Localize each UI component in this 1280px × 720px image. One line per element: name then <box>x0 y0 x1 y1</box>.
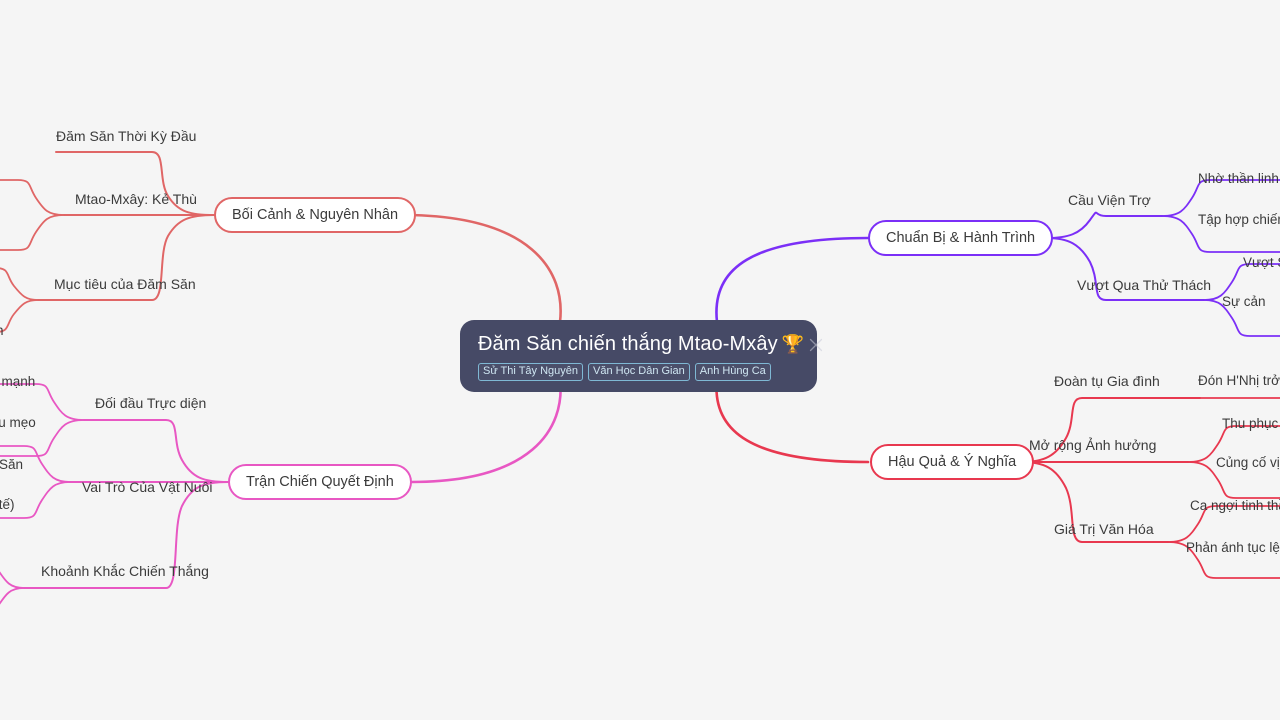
sub-label-khoanh-khac-chien-thang[interactable]: Khoảnh Khắc Chiến Thắng <box>41 563 209 579</box>
leaf-label-hau-qua-1a[interactable]: Đón H'Nhị trở <box>1198 373 1280 389</box>
leaf-label-hau-qua-3a[interactable]: Ca ngợi tinh thầ <box>1190 498 1280 514</box>
sub-label-mo-rong-anh-huong[interactable]: Mở rộng Ảnh hưởng <box>1029 437 1156 453</box>
branch-label: Bối Cảnh & Nguyên Nhân <box>232 207 398 223</box>
sub-label-dam-san-thoi-ky-dau[interactable]: Đăm Săn Thời Kỳ Đầu <box>56 128 196 144</box>
leaf-label-tran-chien-2a[interactable]: m Săn <box>0 457 23 473</box>
root-title: Đăm Săn chiến thắng Mtao-Mxây <box>478 332 778 356</box>
branch-label: Hậu Quả & Ý Nghĩa <box>888 454 1016 470</box>
edge-group-boi-canh-grandchildren <box>0 180 64 332</box>
branch-node-chuan-bi[interactable]: Chuẩn Bị & Hành Trình <box>868 220 1053 256</box>
root-tag[interactable]: Anh Hùng Ca <box>695 363 771 381</box>
root-tag-list: Sử Thi Tây Nguyên Văn Học Dân Gian Anh H… <box>478 363 799 381</box>
edge-group-chuan-bi <box>716 238 868 322</box>
root-tag[interactable]: Sử Thi Tây Nguyên <box>478 363 583 381</box>
root-title-row: Đăm Săn chiến thắng Mtao-Mxây 🏆 <box>478 332 799 356</box>
sub-label-cau-vien-tro[interactable]: Cầu Viện Trợ <box>1068 192 1151 208</box>
sub-label-vuot-qua-thu-thach[interactable]: Vượt Qua Thử Thách <box>1077 277 1211 293</box>
edge-group-boi-canh <box>406 215 561 322</box>
trophy-icon: 🏆 <box>782 334 804 354</box>
leaf-label-hau-qua-2b[interactable]: Củng cố vị <box>1216 455 1280 471</box>
branch-node-boi-canh[interactable]: Bối Cảnh & Nguyên Nhân <box>214 197 416 233</box>
mindmap-canvas: Đăm Săn chiến thắng Mtao-Mxây 🏆 Sử Thi T… <box>0 0 1280 720</box>
leaf-label-chuan-bi-1b[interactable]: Tập hợp chiến <box>1198 212 1280 228</box>
branch-label: Chuẩn Bị & Hành Trình <box>886 230 1035 246</box>
branch-label: Trận Chiến Quyết Định <box>246 474 394 490</box>
crossed-swords-icon[interactable] <box>808 337 824 354</box>
edge-group-tran-chien <box>412 378 561 482</box>
leaf-label-chuan-bi-2a[interactable]: Vượt S <box>1243 255 1280 271</box>
branch-node-tran-chien[interactable]: Trận Chiến Quyết Định <box>228 464 412 500</box>
leaf-label-tran-chien-1a[interactable]: ức mạnh <box>0 374 35 390</box>
root-tag[interactable]: Văn Học Dân Gian <box>588 363 690 381</box>
sub-label-doi-dau-truc-dien[interactable]: Đối đầu Trực diện <box>95 395 206 411</box>
leaf-label-hau-qua-3b[interactable]: Phản ánh tục lệ <box>1186 540 1280 556</box>
root-node[interactable]: Đăm Săn chiến thắng Mtao-Mxây 🏆 Sử Thi T… <box>460 320 817 392</box>
leaf-label-chuan-bi-1a[interactable]: Nhờ thần linh <box>1198 171 1279 187</box>
leaf-label-boi-canh-2b[interactable]: n <box>0 323 4 339</box>
sub-label-vai-tro-cua-vat-nuoi[interactable]: Vai Trò Của Vật Nuôi <box>82 479 212 495</box>
leaf-label-tran-chien-1b[interactable]: mưu mẹo <box>0 415 36 431</box>
branch-node-hau-qua[interactable]: Hậu Quả & Ý Nghĩa <box>870 444 1034 480</box>
sub-label-gia-tri-van-hoa[interactable]: Giá Trị Văn Hóa <box>1054 521 1154 537</box>
sub-label-mtao-mxay-ke-thu[interactable]: Mtao-Mxây: Kẻ Thù <box>75 191 197 207</box>
leaf-label-chuan-bi-2b[interactable]: Sự cản <box>1222 294 1266 310</box>
sub-label-doan-tu-gia-dinh[interactable]: Đoàn tụ Gia đình <box>1054 373 1160 389</box>
sub-label-muc-tieu-cua-dam-san[interactable]: Mục tiêu của Đăm Săn <box>54 276 196 292</box>
leaf-label-tran-chien-2b[interactable]: ến tế) <box>0 497 15 513</box>
leaf-label-hau-qua-2a[interactable]: Thu phục c <box>1222 416 1280 432</box>
leaf-label-boi-canh-2a[interactable]: ) <box>0 259 1 275</box>
